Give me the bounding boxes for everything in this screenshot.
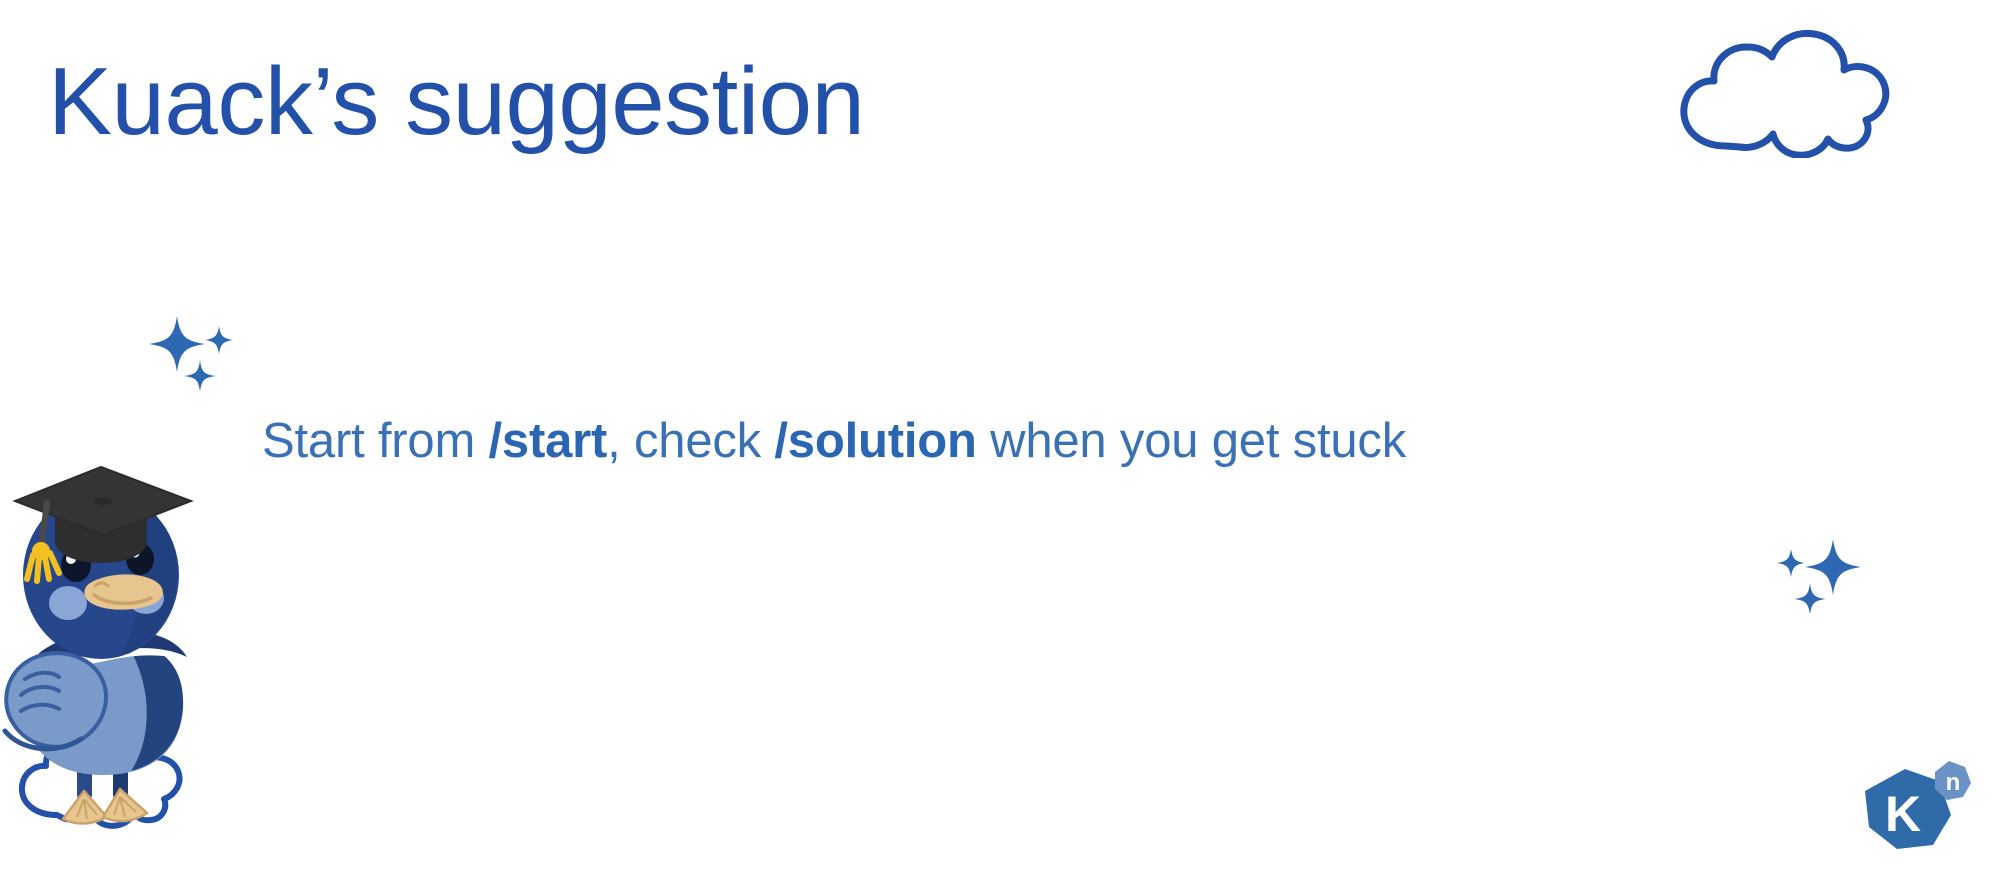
body-text-prefix: Start from [262,414,489,468]
body-text-middle: , check [607,414,774,468]
brand-logo: K n [1855,755,1975,865]
slide-canvas: Kuack’s suggestion Start from /start, ch… [0,0,1999,878]
body-text-suffix: when you get stuck [977,414,1406,468]
command-start: /start [489,414,608,468]
sparkles-icon [145,310,245,390]
mascot-wing [5,653,106,749]
command-solution: /solution [774,414,976,468]
duck-graduate-mascot [0,455,225,865]
body-text: Start from /start, check /solution when … [262,413,1406,469]
sparkles-icon [1765,533,1865,613]
brand-badge-letter: n [1946,769,1961,796]
brand-mark-letter: K [1885,786,1921,842]
cloud-outline-icon [1668,28,1898,158]
page-title: Kuack’s suggestion [48,42,864,162]
